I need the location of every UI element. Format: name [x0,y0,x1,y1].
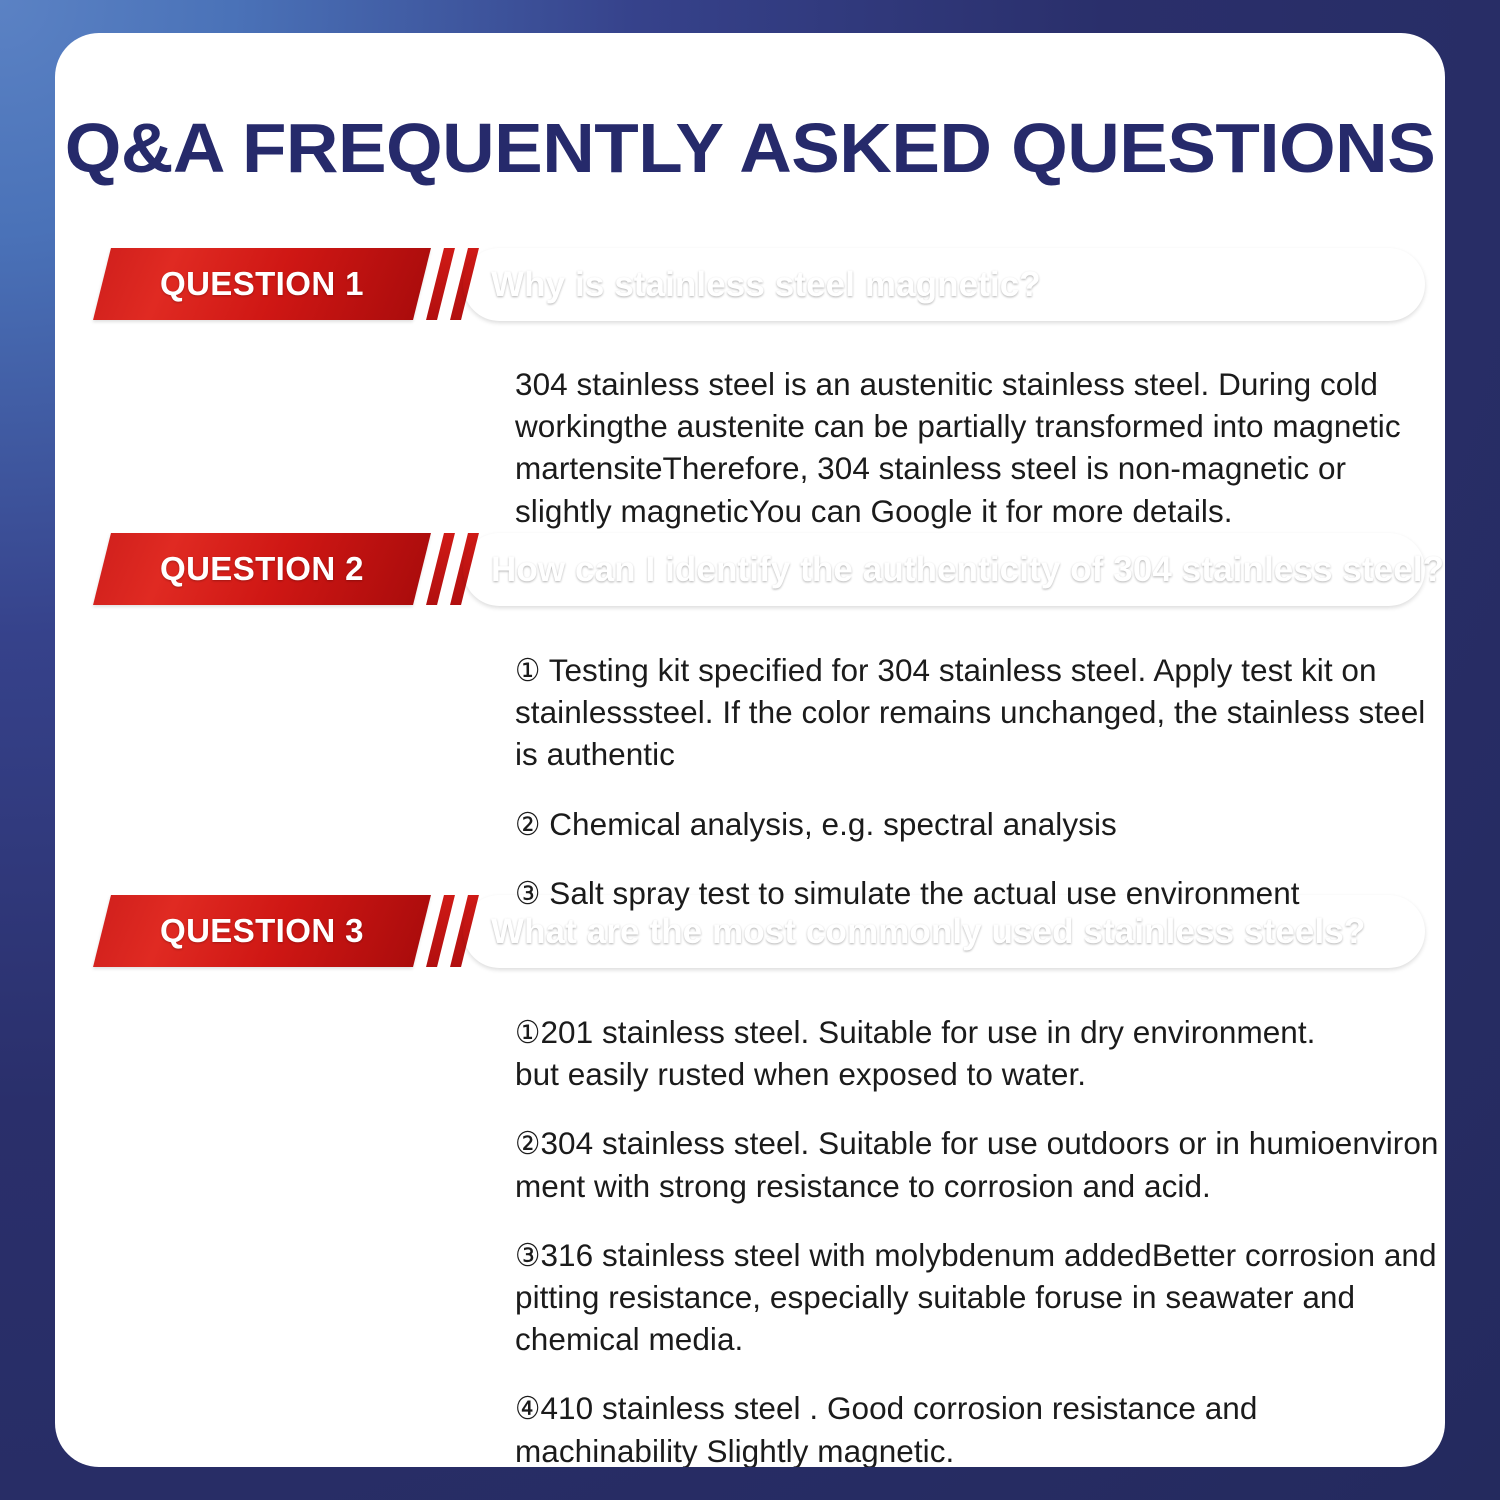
question-header-3: QUESTION 3 What are the most commonly us… [55,895,1445,975]
slash-decor-icon-3a [426,895,455,967]
answer-paragraph: ① Testing kit specified for 304 stainles… [515,649,1445,776]
page-title: Q&A FREQUENTLY ASKED QUESTIONS [55,113,1445,183]
question-heading-label-3: What are the most commonly used stainles… [463,912,1395,952]
question-heading-label-2: How can I identify the authenticity of 3… [463,550,1445,590]
question-header-2: QUESTION 2 How can I identify the authen… [55,533,1445,613]
page-background: Q&A FREQUENTLY ASKED QUESTIONS QUESTION … [0,0,1500,1500]
question-badge-1[interactable]: QUESTION 1 [93,248,431,320]
question-heading-pill-3[interactable]: What are the most commonly used stainles… [463,895,1425,968]
answer-paragraph: ② Chemical analysis, e.g. spectral analy… [515,803,1445,845]
question-header-1: QUESTION 1 Why is stainless steel magnet… [55,248,1445,328]
slash-decor-icon-1a [426,248,455,320]
answer-paragraph: ④410 stainless steel . Good corrosion re… [515,1387,1445,1467]
question-badge-label-1: QUESTION 1 [160,265,364,303]
answer-paragraph: ①201 stainless steel. Suitable for use i… [515,1011,1445,1095]
answer-text-3: ①201 stainless steel. Suitable for use i… [515,1011,1445,1467]
answer-paragraph: ③316 stainless steel with molybdenum add… [515,1234,1445,1361]
question-heading-label-1: Why is stainless steel magnetic? [463,265,1071,305]
answer-paragraph: ②304 stainless steel. Suitable for use o… [515,1122,1445,1206]
answer-text-1: 304 stainless steel is an austenitic sta… [515,363,1445,532]
question-heading-pill-2[interactable]: How can I identify the authenticity of 3… [463,533,1425,606]
slash-decor-icon-2a [426,533,455,605]
question-badge-label-3: QUESTION 3 [160,912,364,950]
answer-paragraph: 304 stainless steel is an austenitic sta… [515,363,1445,532]
question-badge-label-2: QUESTION 2 [160,550,364,588]
question-heading-pill-1[interactable]: Why is stainless steel magnetic? [463,248,1425,321]
faq-card: Q&A FREQUENTLY ASKED QUESTIONS QUESTION … [55,33,1445,1467]
question-badge-3[interactable]: QUESTION 3 [93,895,431,967]
answer-text-2: ① Testing kit specified for 304 stainles… [515,649,1445,914]
question-badge-2[interactable]: QUESTION 2 [93,533,431,605]
